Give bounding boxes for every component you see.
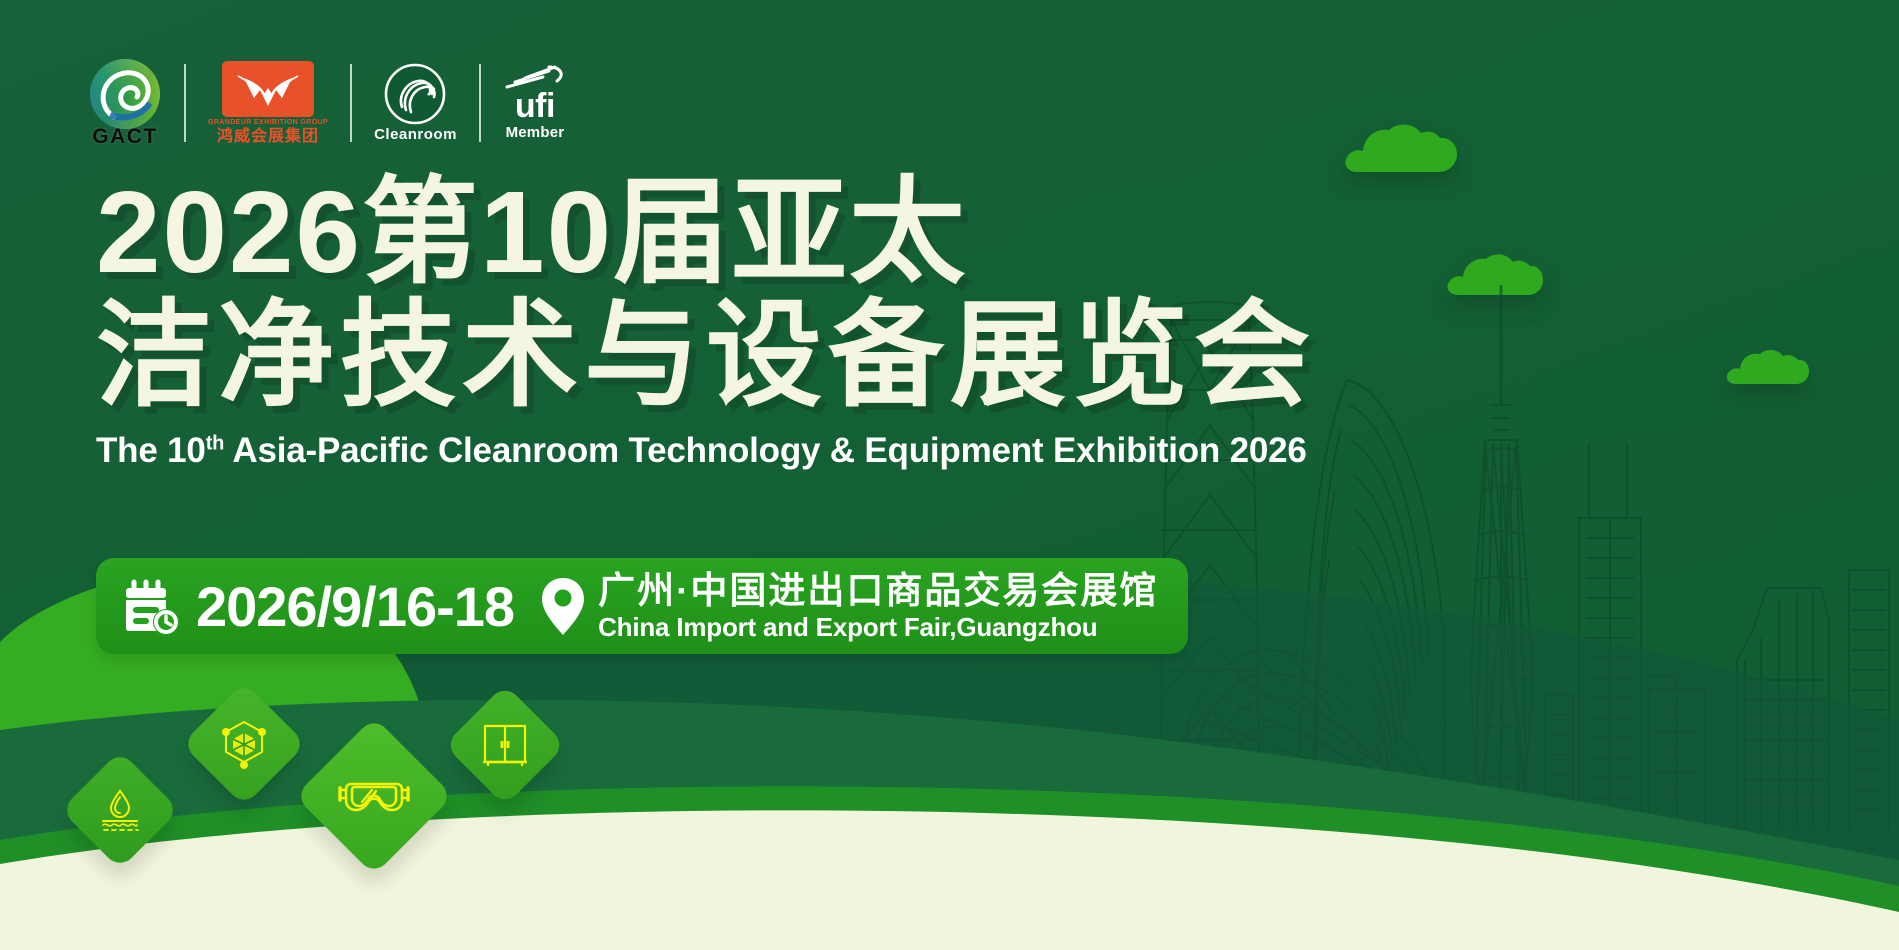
- headline-block: 2026第10届亚太 洁净技术与设备展览会 The 10th Asia-Paci…: [96, 172, 1256, 471]
- pass-box-cabinet-icon: [478, 718, 532, 772]
- logo-grandeur[interactable]: GRANDEUR EXHIBITION GROUP 鸿威会展集团: [186, 54, 350, 152]
- event-date: 2026/9/16-18: [196, 574, 514, 639]
- ufi-wordmark: ufi: [515, 91, 555, 122]
- feature-icon-group: [0, 650, 620, 950]
- water-filtration-icon: [95, 785, 145, 835]
- logo-cleanroom[interactable]: Cleanroom: [352, 54, 479, 152]
- title-line-2: 洁净技术与设备展览会: [96, 295, 1256, 416]
- ufi-member-label: Member: [506, 124, 565, 141]
- subtitle-pre: The 10: [96, 431, 206, 470]
- logo-gact[interactable]: GACT: [88, 54, 184, 152]
- date-venue-pill: 2026/9/16-18 广州·中国进出口商品交易会展馆 China Impor…: [96, 558, 1188, 654]
- subtitle-ordinal: th: [206, 433, 224, 455]
- molecule-cube-icon: [217, 717, 271, 771]
- feature-icon-safety-goggles[interactable]: [295, 717, 453, 875]
- logo-row: GACT GRANDEUR EXHIBITION GROUP 鸿威会展集团: [88, 54, 589, 152]
- venue-name-cn: 广州·中国进出口商品交易会展馆: [598, 570, 1158, 611]
- feature-icon-pass-box-cabinet[interactable]: [444, 684, 566, 806]
- cleanroom-wordmark: Cleanroom: [374, 126, 457, 143]
- venue-name-en: China Import and Export Fair,Guangzhou: [598, 613, 1158, 642]
- gact-wordmark: GACT: [92, 125, 158, 149]
- exhibition-banner: GACT GRANDEUR EXHIBITION GROUP 鸿威会展集团: [0, 0, 1899, 950]
- gact-logo-icon: [88, 57, 162, 131]
- subtitle-post: Asia-Pacific Cleanroom Technology & Equi…: [224, 431, 1307, 470]
- calendar-clock-icon: [122, 576, 182, 636]
- feature-icon-water-filtration[interactable]: [61, 751, 180, 870]
- grandeur-caption-en: GRANDEUR EXHIBITION GROUP: [208, 119, 328, 126]
- title-line-1: 2026第10届亚太: [96, 172, 1256, 293]
- feature-icon-molecule-cube[interactable]: [182, 682, 306, 806]
- venue-block: 广州·中国进出口商品交易会展馆 China Import and Export …: [598, 570, 1158, 641]
- cleanroom-logo-icon: [384, 63, 446, 125]
- grandeur-caption-cn: 鸿威会展集团: [217, 128, 319, 146]
- safety-goggles-icon: [338, 760, 410, 832]
- subtitle-english: The 10th Asia-Pacific Cleanroom Technolo…: [96, 431, 1256, 471]
- logo-ufi[interactable]: ufi Member: [481, 54, 589, 152]
- location-pin-icon: [540, 575, 586, 637]
- grandeur-mark: [222, 61, 314, 117]
- grandeur-wings-icon: [230, 68, 306, 110]
